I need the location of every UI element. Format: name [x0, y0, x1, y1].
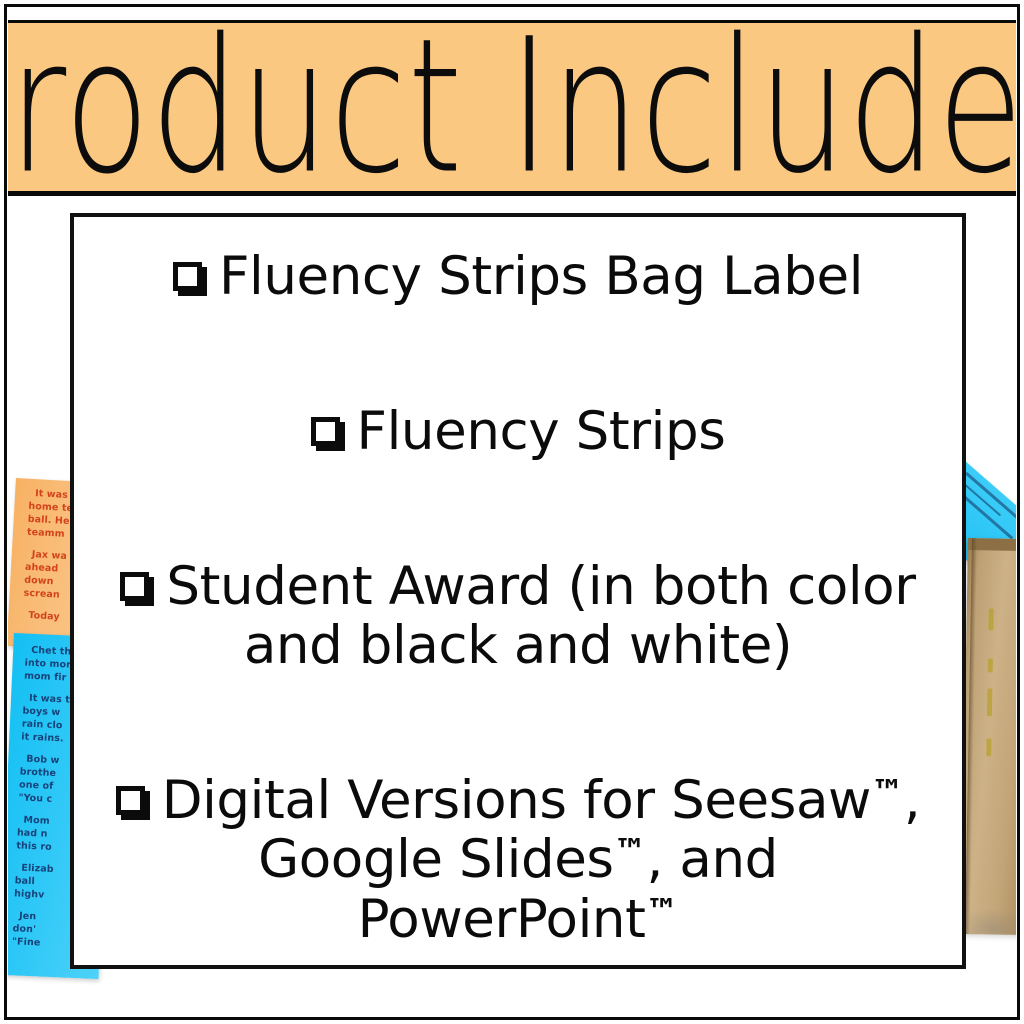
checkbox-icon[interactable] [311, 417, 345, 451]
bag-fold [965, 538, 977, 934]
product-includes-slide: It was th home te ball. He teamm Jax wa … [0, 0, 1024, 1024]
bag-speckle [988, 658, 993, 672]
trademark-symbol: ™ [645, 891, 678, 930]
checkbox-icon[interactable] [173, 262, 207, 296]
list-item: Fluency Strips Bag Label [98, 247, 938, 306]
bag-speckle [987, 688, 992, 716]
list-item: Student Award (in both color and black a… [98, 557, 938, 676]
list-item: Fluency Strips [98, 402, 938, 461]
bag-shadow [961, 908, 1016, 935]
bag-speckle [986, 738, 991, 756]
title-banner: Product Includes [8, 20, 1016, 196]
includes-list: Fluency Strips Bag Label Fluency Strips … [98, 247, 938, 949]
list-item-label: Fluency Strips [357, 401, 726, 462]
bag-speckle [988, 608, 993, 630]
page-title: Product Includes [8, 25, 1016, 188]
list-item-label-part-1: Digital Versions for Seesaw [162, 770, 871, 831]
includes-content-box: Fluency Strips Bag Label Fluency Strips … [70, 213, 966, 969]
trademark-symbol: ™ [871, 772, 904, 811]
kraft-paper-bag [961, 538, 1016, 935]
checkbox-icon[interactable] [120, 572, 154, 606]
checkbox-icon[interactable] [116, 786, 150, 820]
list-item-label: Student Award (in both color and black a… [166, 556, 915, 676]
list-item-label: Fluency Strips Bag Label [219, 246, 863, 307]
list-item: Digital Versions for Seesaw™, Google Sli… [98, 771, 938, 949]
trademark-symbol: ™ [614, 831, 647, 870]
